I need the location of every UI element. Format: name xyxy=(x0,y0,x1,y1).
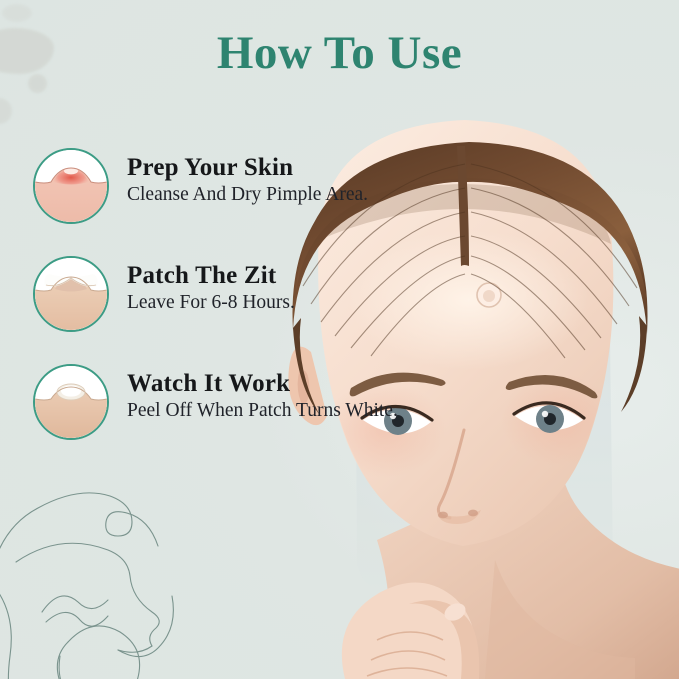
step-text: Prep Your Skin Cleanse And Dry Pimple Ar… xyxy=(127,148,368,208)
step-watch-it-work: Watch It Work Peel Off When Patch Turns … xyxy=(33,364,453,440)
step-text: Patch The Zit Leave For 6-8 Hours. xyxy=(127,256,295,316)
step-text: Watch It Work Peel Off When Patch Turns … xyxy=(127,364,398,424)
step-description: Cleanse And Dry Pimple Area. xyxy=(127,183,368,208)
skin-with-pimple-icon xyxy=(33,148,109,224)
page-title: How To Use xyxy=(0,30,679,77)
single-line-face-illustration-icon xyxy=(0,470,228,679)
skin-with-patch-icon xyxy=(33,256,109,332)
steps-list: Prep Your Skin Cleanse And Dry Pimple Ar… xyxy=(33,148,453,472)
how-to-use-poster: How To Use xyxy=(0,0,679,679)
step-heading: Watch It Work xyxy=(127,371,398,397)
step-prep-your-skin: Prep Your Skin Cleanse And Dry Pimple Ar… xyxy=(33,148,453,224)
decor-blob-icon xyxy=(0,98,12,124)
step-description: Leave For 6-8 Hours. xyxy=(127,291,295,316)
step-heading: Patch The Zit xyxy=(127,263,295,289)
patch-turned-white-icon xyxy=(33,364,109,440)
step-heading: Prep Your Skin xyxy=(127,155,368,181)
step-description: Peel Off When Patch Turns White. xyxy=(127,399,398,424)
step-patch-the-zit: Patch The Zit Leave For 6-8 Hours. xyxy=(33,256,453,332)
decor-blob-icon xyxy=(2,4,32,22)
